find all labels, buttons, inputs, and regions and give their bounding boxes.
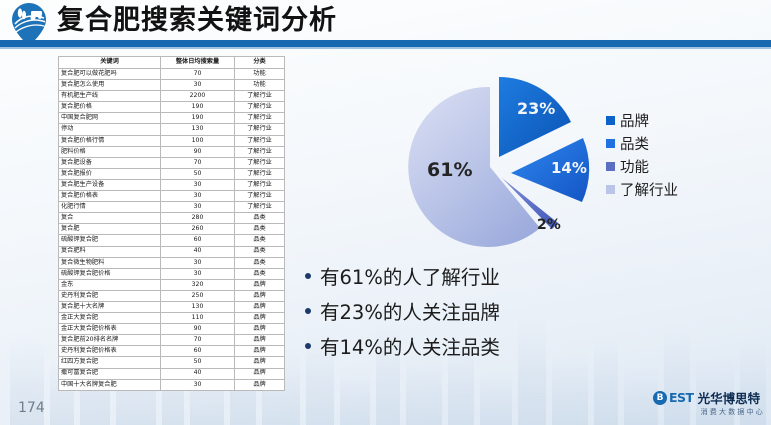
legend-item: 品牌 [606, 109, 678, 132]
table-cell-keyword: 肥料价格 [59, 146, 161, 157]
table-cell-volume: 30 [161, 257, 235, 268]
table-row: 中国十大名牌复合肥30品牌 [59, 379, 285, 390]
table-cell-keyword: 复合肥价格表 [59, 191, 161, 202]
table-cell-keyword: 复合肥报价 [59, 168, 161, 179]
legend-swatch-icon [606, 162, 615, 171]
table-cell-keyword: 复合肥价格 [59, 102, 161, 113]
table-cell-category: 品类 [235, 213, 285, 224]
table-cell-keyword: 复合肥价格行情 [59, 135, 161, 146]
table-cell-volume: 190 [161, 102, 235, 113]
table-row: 复合肥设备70了解行业 [59, 157, 285, 168]
table-cell-volume: 50 [161, 168, 235, 179]
brand-tagline: 消费大数据中心 [653, 407, 765, 417]
table-cell-category: 了解行业 [235, 191, 285, 202]
table-cell-volume: 190 [161, 113, 235, 124]
legend-label: 功能 [620, 156, 649, 177]
table-cell-keyword: 中国十大名牌复合肥 [59, 379, 161, 390]
table-cell-keyword: 金正大复合肥 [59, 313, 161, 324]
table-cell-category: 了解行业 [235, 124, 285, 135]
table-cell-category: 品牌 [235, 335, 285, 346]
table-cell-volume: 110 [161, 313, 235, 324]
page-number: 174 [18, 400, 45, 416]
table-cell-keyword: 复合肥 [59, 224, 161, 235]
table-cell-keyword: 复合肥料 [59, 246, 161, 257]
table-row: 史丹利复合肥250品牌 [59, 290, 285, 301]
table-cell-volume: 130 [161, 124, 235, 135]
table-cell-volume: 40 [161, 368, 235, 379]
table-cell-category: 了解行业 [235, 113, 285, 124]
table-cell-keyword: 复合肥生产设备 [59, 179, 161, 190]
table-cell-volume: 280 [161, 213, 235, 224]
table-cell-category: 了解行业 [235, 179, 285, 190]
bullet-text: 有23%的人关注品牌 [320, 296, 500, 325]
table-row: 复合肥价格表30了解行业 [59, 191, 285, 202]
table-cell-keyword: 硫酸钾复合肥价格 [59, 268, 161, 279]
table-cell-keyword: 复合肥前20排名名牌 [59, 335, 161, 346]
brand-name-cn: 光华博思特 [698, 388, 761, 407]
legend-label: 品牌 [620, 110, 649, 131]
table-cell-volume: 60 [161, 235, 235, 246]
table-row: 金东320品牌 [59, 279, 285, 290]
table-cell-volume: 70 [161, 335, 235, 346]
table-row: 复合肥十大名牌130品牌 [59, 301, 285, 312]
table-cell-category: 品牌 [235, 357, 285, 368]
legend-label: 了解行业 [620, 179, 678, 200]
table-row: 复合肥生产设备30了解行业 [59, 179, 285, 190]
table-row: 中国复合肥网190了解行业 [59, 113, 285, 124]
pie-label-function: 2% [537, 217, 561, 233]
table-row: 复合肥前20排名名牌70品牌 [59, 335, 285, 346]
keyword-table: 关键词 整体日均搜索量 分类 复合肥可以做花肥吗70功能复合肥怎么使用30功能有… [58, 56, 285, 391]
table-cell-volume: 30 [161, 379, 235, 390]
table-cell-category: 品牌 [235, 279, 285, 290]
list-item: 有61%的人了解行业 [305, 258, 500, 293]
table-cell-keyword: 停动 [59, 124, 161, 135]
table-body: 复合肥可以做花肥吗70功能复合肥怎么使用30功能有机肥生产线2200了解行业复合… [59, 69, 285, 391]
insight-bullet-list: 有61%的人了解行业有23%的人关注品牌有14%的人关注品类 [305, 258, 500, 363]
table-cell-volume: 100 [161, 135, 235, 146]
list-item: 有14%的人关注品类 [305, 328, 500, 363]
table-cell-keyword: 撒可富复合肥 [59, 368, 161, 379]
bullet-dot-icon [305, 273, 311, 279]
legend-item: 功能 [606, 155, 678, 178]
table-cell-volume: 320 [161, 279, 235, 290]
table-row: 金正大复合肥价格表90品牌 [59, 324, 285, 335]
table-row: 有机肥生产线2200了解行业 [59, 91, 285, 102]
table-cell-category: 品类 [235, 224, 285, 235]
table-row: 复合肥260品类 [59, 224, 285, 235]
table-cell-volume: 30 [161, 268, 235, 279]
table-cell-volume: 40 [161, 246, 235, 257]
table-row: 化肥行情30了解行业 [59, 202, 285, 213]
table-row: 复合肥料40品类 [59, 246, 285, 257]
table-row: 复合微生物肥料30品类 [59, 257, 285, 268]
table-cell-volume: 60 [161, 346, 235, 357]
brand-name-en: EST [669, 390, 694, 405]
pie-label-industry: 61% [427, 159, 472, 181]
table-cell-category: 了解行业 [235, 157, 285, 168]
table-row: 史丹利复合肥价格表60品牌 [59, 346, 285, 357]
table-row: 复合肥价格190了解行业 [59, 102, 285, 113]
table-cell-category: 品牌 [235, 379, 285, 390]
table-cell-category: 品类 [235, 257, 285, 268]
pie-label-category: 14% [551, 159, 587, 177]
legend-swatch-icon [606, 116, 615, 125]
column-header-keyword: 关键词 [59, 57, 161, 69]
table-cell-keyword: 复合 [59, 213, 161, 224]
table-cell-volume: 260 [161, 224, 235, 235]
bullet-text: 有14%的人关注品类 [320, 331, 500, 360]
table-cell-category: 品牌 [235, 313, 285, 324]
table-cell-keyword: 复合肥设备 [59, 157, 161, 168]
table-cell-category: 品类 [235, 235, 285, 246]
bullet-dot-icon [305, 308, 311, 314]
table-header-row: 关键词 整体日均搜索量 分类 [59, 57, 285, 69]
table-cell-keyword: 中国复合肥网 [59, 113, 161, 124]
table-row: 复合肥怎么使用30功能 [59, 80, 285, 91]
table-cell-keyword: 金东 [59, 279, 161, 290]
table-cell-category: 品牌 [235, 368, 285, 379]
table-cell-volume: 90 [161, 324, 235, 335]
brand-mark-icon: B [653, 391, 667, 405]
table-cell-category: 了解行业 [235, 146, 285, 157]
table-cell-keyword: 有机肥生产线 [59, 91, 161, 102]
table-cell-volume: 30 [161, 191, 235, 202]
table-cell-keyword: 史丹利复合肥 [59, 290, 161, 301]
table-row: 硫酸钾复合肥价格30品类 [59, 268, 285, 279]
table-cell-volume: 70 [161, 157, 235, 168]
table-cell-volume: 250 [161, 290, 235, 301]
table-cell-keyword: 复合肥十大名牌 [59, 301, 161, 312]
table-row: 复合肥价格行情100了解行业 [59, 135, 285, 146]
table-cell-category: 功能 [235, 69, 285, 80]
table-cell-category: 了解行业 [235, 91, 285, 102]
table-cell-keyword: 复合肥可以做花肥吗 [59, 69, 161, 80]
table-cell-volume: 50 [161, 357, 235, 368]
table-cell-category: 功能 [235, 80, 285, 91]
table-row: 肥料价格90了解行业 [59, 146, 285, 157]
table-cell-category: 品类 [235, 246, 285, 257]
table-row: 红四方复合肥50品牌 [59, 357, 285, 368]
table-row: 硫酸钾复合肥60品类 [59, 235, 285, 246]
header-accent-bar [0, 40, 771, 47]
table-cell-category: 品牌 [235, 290, 285, 301]
table-cell-category: 品类 [235, 268, 285, 279]
table-cell-volume: 70 [161, 69, 235, 80]
slide-header: 复合肥搜索关键词分析 [0, 0, 771, 48]
table-cell-volume: 90 [161, 146, 235, 157]
list-item: 有23%的人关注品牌 [305, 293, 500, 328]
table-cell-volume: 30 [161, 80, 235, 91]
table-cell-keyword: 化肥行情 [59, 202, 161, 213]
table-cell-category: 品牌 [235, 324, 285, 335]
pie-label-brand: 23% [517, 99, 555, 118]
table-row: 撒可富复合肥40品牌 [59, 368, 285, 379]
bullet-dot-icon [305, 343, 311, 349]
table-row: 复合肥报价50了解行业 [59, 168, 285, 179]
table-row: 复合280品类 [59, 213, 285, 224]
table-cell-category: 了解行业 [235, 102, 285, 113]
table-cell-category: 了解行业 [235, 202, 285, 213]
company-logo: B EST 光华博思特 消费大数据中心 [653, 389, 765, 419]
table-cell-category: 了解行业 [235, 135, 285, 146]
pie-chart: 61% 23% 14% 2% [398, 75, 628, 260]
page-title: 复合肥搜索关键词分析 [57, 2, 337, 40]
table-cell-keyword: 金正大复合肥价格表 [59, 324, 161, 335]
table-cell-volume: 30 [161, 202, 235, 213]
column-header-category: 分类 [235, 57, 285, 69]
table-cell-category: 品牌 [235, 346, 285, 357]
table-cell-volume: 30 [161, 179, 235, 190]
legend-swatch-icon [606, 139, 615, 148]
table-cell-keyword: 红四方复合肥 [59, 357, 161, 368]
table-cell-keyword: 硫酸钾复合肥 [59, 235, 161, 246]
legend-swatch-icon [606, 185, 615, 194]
table-cell-keyword: 复合肥怎么使用 [59, 80, 161, 91]
table-row: 金正大复合肥110品牌 [59, 313, 285, 324]
legend-item: 了解行业 [606, 178, 678, 201]
column-header-volume: 整体日均搜索量 [161, 57, 235, 69]
bullet-text: 有61%的人了解行业 [320, 261, 500, 290]
table-cell-category: 品牌 [235, 301, 285, 312]
table-cell-volume: 130 [161, 301, 235, 312]
table-row: 停动130了解行业 [59, 124, 285, 135]
legend-label: 品类 [620, 133, 649, 154]
chart-legend: 品牌品类功能了解行业 [606, 109, 678, 201]
table-cell-keyword: 史丹利复合肥价格表 [59, 346, 161, 357]
keyword-table-container: 关键词 整体日均搜索量 分类 复合肥可以做花肥吗70功能复合肥怎么使用30功能有… [58, 56, 284, 391]
table-cell-keyword: 复合微生物肥料 [59, 257, 161, 268]
table-cell-volume: 2200 [161, 91, 235, 102]
legend-item: 品类 [606, 132, 678, 155]
table-cell-category: 了解行业 [235, 168, 285, 179]
table-row: 复合肥可以做花肥吗70功能 [59, 69, 285, 80]
